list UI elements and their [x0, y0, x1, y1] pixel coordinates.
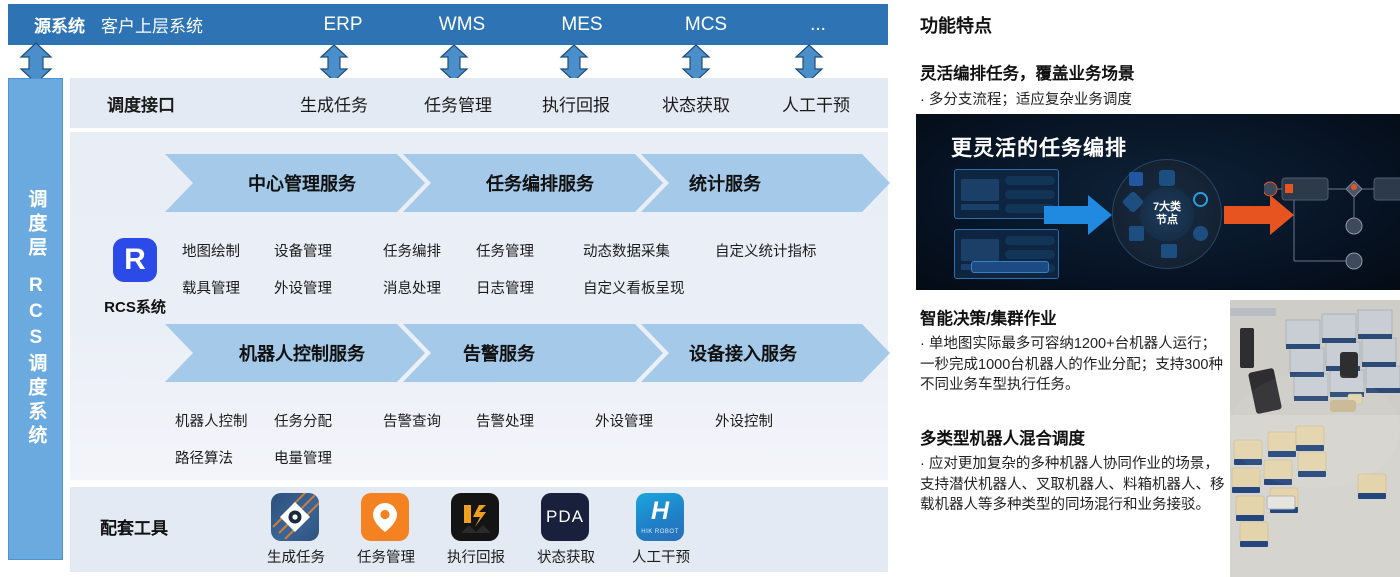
dark-glyph-icon	[451, 493, 499, 541]
hik-robot-subtext: HIK ROBOT	[636, 529, 684, 535]
chevron-statistics-service[interactable]: 统计服务	[641, 154, 890, 212]
scheduling-interface-strip: 调度接口 生成任务 任务管理 执行回报 状态获取 人工干预	[70, 78, 888, 128]
item-log-management[interactable]: 日志管理	[476, 277, 534, 298]
system-mcs[interactable]: MCS	[661, 14, 751, 36]
tool-manual-intervention[interactable]: H HIK ROBOT 人工干预	[632, 493, 688, 567]
item-task-allocation[interactable]: 任务分配	[274, 410, 332, 431]
interface-task-management[interactable]: 任务管理	[408, 91, 508, 116]
service-row-2-chevrons: 机器人控制服务 告警服务 设备接入服务	[165, 324, 880, 382]
tool-execution-report[interactable]: 执行回报	[447, 493, 503, 567]
item-peripheral-control[interactable]: 外设控制	[715, 410, 773, 431]
item-robot-control[interactable]: 机器人控制	[175, 410, 248, 431]
flow-graph	[1264, 166, 1400, 276]
item-device-management[interactable]: 设备管理	[274, 240, 332, 261]
item-peripheral-management[interactable]: 外设管理	[274, 277, 332, 298]
feature-block-1: 灵活编排任务，覆盖业务场景 · 多分支流程；适应复杂业务调度	[920, 60, 1390, 111]
system-erp[interactable]: ERP	[298, 14, 388, 36]
item-custom-statistics-metrics[interactable]: 自定义统计指标	[715, 240, 817, 261]
chevron-label: 机器人控制服务	[165, 340, 425, 366]
double-arrow-wms-icon	[438, 44, 470, 82]
chevron-device-access-service[interactable]: 设备接入服务	[641, 324, 890, 382]
tool-label: 状态获取	[537, 546, 593, 567]
feature-heading: 智能决策/集群作业	[920, 305, 1225, 329]
item-task-management[interactable]: 任务管理	[476, 240, 534, 261]
tool-create-task[interactable]: 生成任务	[267, 493, 323, 567]
tool-label: 人工干预	[632, 546, 688, 567]
rcs-system-label: RCS系统	[94, 296, 176, 317]
tool-task-management[interactable]: 任务管理	[357, 493, 413, 567]
system-wms[interactable]: WMS	[417, 14, 507, 36]
task-orchestration-illustration: 更灵活的任务编排	[916, 114, 1400, 290]
item-carrier-management[interactable]: 载具管理	[182, 277, 240, 298]
item-peripheral-management-2[interactable]: 外设管理	[595, 410, 653, 431]
architecture-diagram: 源系统 客户上层系统 ERP WMS MES MCS ... 调度层	[0, 0, 890, 577]
chevron-task-orchestration-service[interactable]: 任务编排服务	[403, 154, 663, 212]
rcs-logo-icon: R	[113, 238, 157, 282]
item-dynamic-data-collection[interactable]: 动态数据采集	[583, 240, 670, 261]
chevron-center-management-service[interactable]: 中心管理服务	[165, 154, 425, 212]
service-row-1-chevrons: 中心管理服务 任务编排服务 统计服务	[165, 154, 880, 212]
scheduling-interface-title: 调度接口	[107, 91, 175, 116]
item-task-orchestration[interactable]: 任务编排	[383, 240, 441, 261]
chevron-label: 告警服务	[403, 340, 663, 366]
item-custom-dashboard[interactable]: 自定义看板呈现	[583, 277, 685, 298]
double-arrow-erp-icon	[318, 44, 350, 82]
item-message-processing[interactable]: 消息处理	[383, 277, 441, 298]
item-alarm-query[interactable]: 告警查询	[383, 410, 441, 431]
double-arrow-mcs-icon	[680, 44, 712, 82]
chevron-alarm-service[interactable]: 告警服务	[403, 324, 663, 382]
warehouse-robots-photo	[1230, 300, 1400, 577]
system-mes[interactable]: MES	[537, 14, 627, 36]
item-battery-management[interactable]: 电量管理	[274, 447, 332, 468]
feature-heading: 多类型机器人混合调度	[920, 425, 1225, 449]
chevron-robot-control-service[interactable]: 机器人控制服务	[165, 324, 425, 382]
item-path-algorithm[interactable]: 路径算法	[175, 447, 233, 468]
customer-upper-system-label: 客户上层系统	[101, 12, 203, 37]
supporting-tools-title: 配套工具	[100, 514, 168, 539]
scheduling-layer-sidebar: 调度层 RCS调度系统	[8, 78, 63, 560]
hik-diamond-icon	[271, 493, 319, 541]
interface-execution-report[interactable]: 执行回报	[526, 91, 626, 116]
chevron-label: 中心管理服务	[165, 170, 425, 196]
illustration-title: 更灵活的任务编排	[951, 132, 1127, 162]
blue-arrow-icon	[1044, 192, 1114, 238]
system-more[interactable]: ...	[773, 14, 863, 36]
feature-block-3: 多类型机器人混合调度 · 应对更加复杂的多种机器人协同作业的场景，支持潜伏机器人…	[920, 425, 1225, 516]
chevron-label: 任务编排服务	[403, 170, 663, 196]
double-arrow-more-icon	[793, 44, 825, 82]
features-title: 功能特点	[920, 12, 992, 38]
pda-icon: PDA	[541, 493, 589, 541]
feature-body: · 多分支流程；适应复杂业务调度	[920, 90, 1390, 111]
rcs-system-block: R RCS系统	[94, 238, 176, 317]
flow-card-3	[971, 261, 1049, 273]
hik-robot-letter: H	[636, 497, 684, 526]
hik-robot-h-icon: H HIK ROBOT	[636, 493, 684, 541]
feature-body: · 单地图实际最多可容纳1200+台机器人运行；一秒完成1000台机器人的作业分…	[920, 334, 1225, 396]
item-map-drawing[interactable]: 地图绘制	[182, 240, 240, 261]
sidebar-line-1: 调度层	[23, 189, 49, 261]
services-panel: R RCS系统 中心管理服务 任务编排服务 统计服务 地图绘制 设备管理 任务编…	[70, 132, 888, 480]
slide-root: 源系统 客户上层系统 ERP WMS MES MCS ... 调度层	[0, 0, 1400, 577]
node-types-circle: 7大类 节点	[1112, 159, 1222, 269]
orange-location-pin-icon	[361, 493, 409, 541]
supporting-tools-strip: 配套工具 生成任务	[70, 487, 888, 572]
source-systems-header: 源系统 客户上层系统 ERP WMS MES MCS ...	[8, 4, 888, 45]
feature-heading: 灵活编排任务，覆盖业务场景	[920, 60, 1390, 84]
source-system-label: 源系统	[34, 12, 85, 37]
tool-label: 任务管理	[357, 546, 413, 567]
feature-body: · 应对更加复杂的多种机器人协同作业的场景，支持潜伏机器人、叉取机器人、料箱机器…	[920, 454, 1225, 516]
interface-manual-intervention[interactable]: 人工干预	[766, 91, 866, 116]
interface-status-fetch[interactable]: 状态获取	[646, 91, 746, 116]
double-arrow-mes-icon	[558, 44, 590, 82]
tool-label: 执行回报	[447, 546, 503, 567]
chevron-label: 设备接入服务	[641, 340, 890, 366]
feature-block-2: 智能决策/集群作业 · 单地图实际最多可容纳1200+台机器人运行；一秒完成10…	[920, 305, 1225, 396]
node-count-label: 7大类 节点	[1140, 187, 1194, 241]
interface-create-task[interactable]: 生成任务	[284, 91, 384, 116]
item-alarm-handling[interactable]: 告警处理	[476, 410, 534, 431]
tool-status-fetch[interactable]: PDA 状态获取	[537, 493, 593, 567]
chevron-label: 统计服务	[641, 170, 890, 196]
tool-label: 生成任务	[267, 546, 323, 567]
sidebar-line-2: RCS调度系统	[23, 275, 49, 449]
